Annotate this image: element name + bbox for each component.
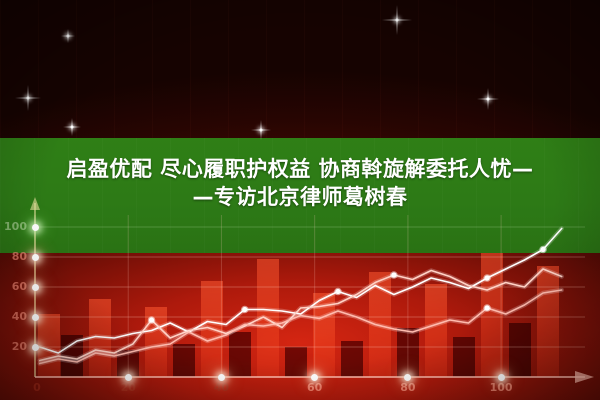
- x-tick-label: 20: [121, 381, 136, 394]
- axis-tick-dot: [218, 374, 225, 381]
- y-tick-label: 20: [12, 340, 27, 353]
- axis-tick-dot: [32, 224, 39, 231]
- y-tick-label: 40: [12, 310, 27, 323]
- x-tick-label: 100: [490, 381, 513, 394]
- page-title: 启盈优配 尽心履职护权益 协商斡旋解委托人忧— —专访北京律师葛树春: [0, 155, 600, 212]
- data-point-marker: [485, 305, 490, 310]
- y-tick-label: 80: [12, 250, 27, 263]
- axis-tick-dot: [32, 344, 39, 351]
- y-tick-label: 100: [4, 220, 27, 233]
- star-sparkle-icon: [477, 88, 499, 110]
- axis-tick-dot: [311, 374, 318, 381]
- axis-tick-dot: [404, 374, 411, 381]
- x-axis-arrow: [575, 371, 594, 383]
- star-sparkle-icon: [61, 29, 75, 43]
- y-tick-label: 60: [12, 280, 27, 293]
- data-point-marker: [485, 275, 490, 280]
- x-tick-label: 0: [33, 381, 41, 394]
- data-point-marker: [149, 317, 154, 322]
- axis-tick-dot: [32, 254, 39, 261]
- data-point-marker: [242, 307, 247, 312]
- title-line-2: —专访北京律师葛树春: [0, 183, 600, 211]
- star-sparkle-icon: [251, 120, 271, 140]
- x-tick-label: 80: [400, 381, 415, 394]
- axis-tick-dot: [498, 374, 505, 381]
- star-sparkle-icon: [63, 118, 81, 136]
- x-tick-label: 60: [307, 381, 322, 394]
- x-tick-label: 40: [214, 381, 229, 394]
- axis-tick-dot: [125, 374, 132, 381]
- axis-tick-dot: [32, 314, 39, 321]
- star-sparkle-icon: [15, 85, 41, 111]
- data-point-marker: [391, 272, 396, 277]
- data-point-marker: [335, 289, 340, 294]
- title-line-1: 启盈优配 尽心履职护权益 协商斡旋解委托人忧—: [0, 155, 600, 183]
- chart-image: 20406080100204060801000 启盈优配 尽心履职护权益 协商斡…: [0, 0, 600, 400]
- axis-tick-dot: [32, 284, 39, 291]
- data-point-marker: [540, 247, 545, 252]
- star-sparkle-icon: [382, 5, 412, 35]
